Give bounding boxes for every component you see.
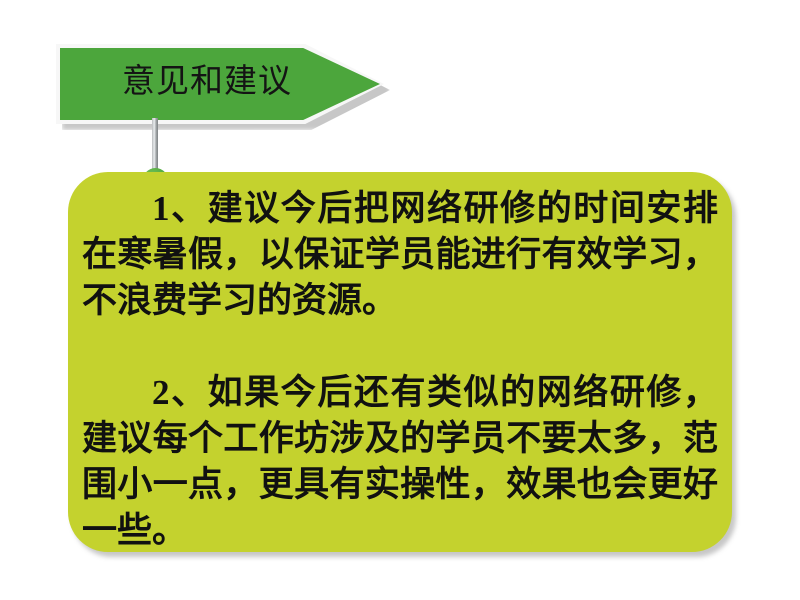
content-text-block: 1、建议今后把网络研修的时间安排在寒暑假，以保证学员能进行有效学习，不浪费学习的… bbox=[82, 186, 718, 554]
content-panel: 1、建议今后把网络研修的时间安排在寒暑假，以保证学员能进行有效学习，不浪费学习的… bbox=[68, 172, 732, 552]
slide-canvas: 意见和建议 1、建议今后把网络研修的时间安排在寒暑假，以保证学员能进行有效学习，… bbox=[0, 0, 800, 600]
paragraph-1: 1、建议今后把网络研修的时间安排在寒暑假，以保证学员能进行有效学习，不浪费学习的… bbox=[82, 186, 718, 324]
header-arrow-banner[interactable]: 意见和建议 bbox=[56, 44, 384, 124]
header-title: 意见和建议 bbox=[122, 60, 292, 104]
paragraph-2: 2、如果今后还有类似的网络研修，建议每个工作坊涉及的学员不要太多，范围小一点，更… bbox=[82, 370, 718, 554]
